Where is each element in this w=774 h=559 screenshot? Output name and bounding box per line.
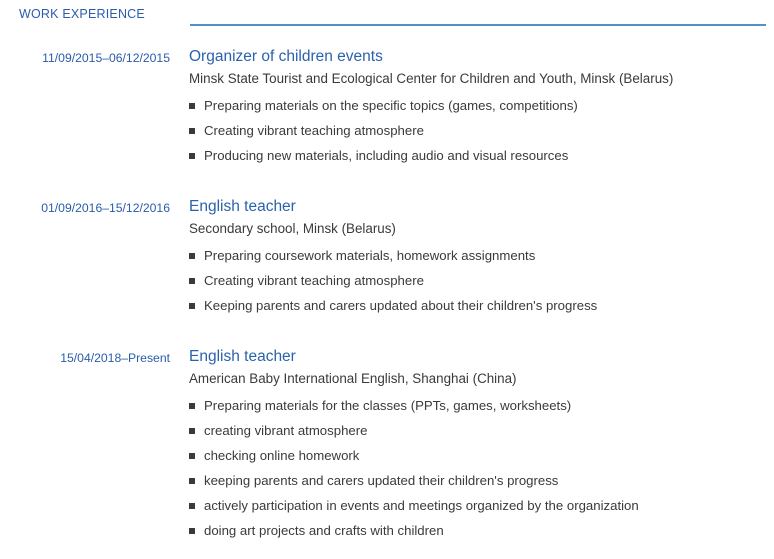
- entry-body: English teacherSecondary school, Minsk (…: [170, 196, 774, 318]
- list-item: Preparing materials on the specific topi…: [189, 93, 774, 118]
- list-item: actively participation in events and mee…: [189, 493, 774, 518]
- list-item-label: Preparing coursework materials, homework…: [204, 248, 535, 263]
- square-bullet-icon: [189, 403, 195, 409]
- list-item: Keeping parents and carers updated about…: [189, 293, 774, 318]
- list-item: Creating vibrant teaching atmosphere: [189, 268, 774, 293]
- section-divider-rule: [190, 24, 766, 26]
- list-item-label: Creating vibrant teaching atmosphere: [204, 273, 424, 288]
- experience-entry: 15/04/2018–PresentEnglish teacherAmerica…: [0, 334, 774, 559]
- entry-job-title: English teacher: [189, 346, 774, 367]
- experience-entry: 01/09/2016–15/12/2016English teacherSeco…: [0, 184, 774, 334]
- list-item: doing art projects and crafts with child…: [189, 518, 774, 543]
- entry-date-range: 01/09/2016–15/12/2016: [0, 196, 170, 218]
- entry-organization: Minsk State Tourist and Ecological Cente…: [189, 69, 774, 89]
- experience-entry-row: 01/09/2016–15/12/2016English teacherSeco…: [0, 196, 774, 318]
- entry-job-title: Organizer of children events: [189, 46, 774, 67]
- list-item-label: creating vibrant atmosphere: [204, 423, 367, 438]
- entry-responsibility-list: Preparing materials on the specific topi…: [189, 93, 774, 168]
- list-item-label: keeping parents and carers updated their…: [204, 473, 558, 488]
- square-bullet-icon: [189, 253, 195, 259]
- list-item-label: doing art projects and crafts with child…: [204, 523, 444, 538]
- square-bullet-icon: [189, 103, 195, 109]
- entry-date-range: 11/09/2015–06/12/2015: [0, 46, 170, 68]
- square-bullet-icon: [189, 303, 195, 309]
- square-bullet-icon: [189, 153, 195, 159]
- entry-organization: American Baby International English, Sha…: [189, 369, 774, 389]
- square-bullet-icon: [189, 128, 195, 134]
- list-item: Creating vibrant teaching atmosphere: [189, 118, 774, 143]
- square-bullet-icon: [189, 503, 195, 509]
- experience-entry-row: 11/09/2015–06/12/2015Organizer of childr…: [0, 46, 774, 168]
- square-bullet-icon: [189, 528, 195, 534]
- entry-responsibility-list: Preparing coursework materials, homework…: [189, 243, 774, 318]
- list-item: keeping parents and carers updated their…: [189, 468, 774, 493]
- list-item: Producing new materials, including audio…: [189, 143, 774, 168]
- square-bullet-icon: [189, 428, 195, 434]
- experience-entry: 11/09/2015–06/12/2015Organizer of childr…: [0, 46, 774, 184]
- list-item-label: checking online homework: [204, 448, 359, 463]
- section-title: WORK EXPERIENCE: [19, 7, 145, 21]
- list-item: Preparing materials for the classes (PPT…: [189, 393, 774, 418]
- square-bullet-icon: [189, 278, 195, 284]
- entry-body: English teacherAmerican Baby Internation…: [170, 346, 774, 543]
- square-bullet-icon: [189, 453, 195, 459]
- list-item-label: Preparing materials for the classes (PPT…: [204, 398, 571, 413]
- entry-job-title: English teacher: [189, 196, 774, 217]
- list-item: creating vibrant atmosphere: [189, 418, 774, 443]
- list-item-label: Producing new materials, including audio…: [204, 148, 568, 163]
- list-item-label: actively participation in events and mee…: [204, 498, 639, 513]
- list-item-label: Creating vibrant teaching atmosphere: [204, 123, 424, 138]
- work-experience-list: 11/09/2015–06/12/2015Organizer of childr…: [0, 46, 774, 559]
- entry-body: Organizer of children eventsMinsk State …: [170, 46, 774, 168]
- list-item-label: Keeping parents and carers updated about…: [204, 298, 597, 313]
- list-item: checking online homework: [189, 443, 774, 468]
- list-item-label: Preparing materials on the specific topi…: [204, 98, 578, 113]
- entry-organization: Secondary school, Minsk (Belarus): [189, 219, 774, 239]
- experience-entry-row: 15/04/2018–PresentEnglish teacherAmerica…: [0, 346, 774, 543]
- entry-date-range: 15/04/2018–Present: [0, 346, 170, 368]
- entry-responsibility-list: Preparing materials for the classes (PPT…: [189, 393, 774, 543]
- work-experience-section-header: WORK EXPERIENCE: [0, 6, 774, 32]
- square-bullet-icon: [189, 478, 195, 484]
- list-item: Preparing coursework materials, homework…: [189, 243, 774, 268]
